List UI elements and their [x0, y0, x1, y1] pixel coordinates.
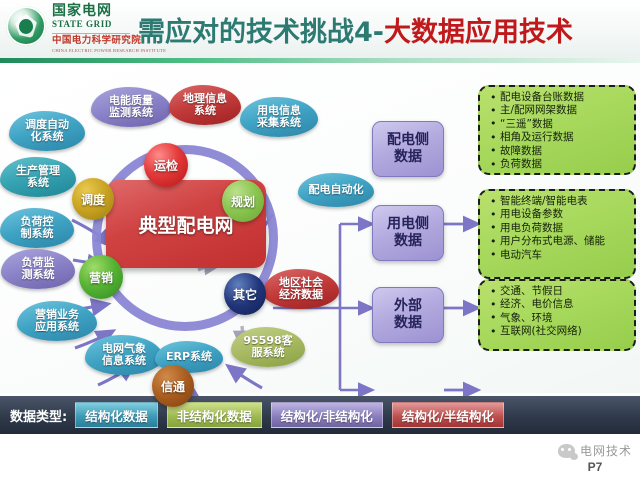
category-box-external-data[interactable]: 外部 数据 [372, 287, 444, 343]
cloud-regional-socioeconomic-data[interactable]: 地区社会经济数据 [263, 269, 339, 309]
cloud-marketing-business-application-system[interactable]: 营销业务应用系统 [17, 301, 97, 341]
hub-node-marketing[interactable]: 营销 [79, 255, 123, 299]
diagram-panel: 典型配电网 运检 规划 其它 信通 营销 调度 电能质量监测系统 地理信息系统 … [0, 63, 640, 393]
legend-label: 数据类型: [10, 406, 67, 425]
list-items: 配电设备台账数据 主/配网网架数据 “三遥”数据 相角及运行数据 故障数据 负荷… [488, 91, 628, 171]
state-grid-logo-icon [6, 6, 46, 46]
list-item: 用电负荷数据 [500, 222, 628, 235]
legend-chip-structured-semistructured[interactable]: 结构化/半结构化 [392, 402, 504, 428]
list-item: 互联网(社交网络) [500, 325, 628, 338]
watermark: 电网技术 P7 [558, 442, 632, 474]
cloud-label: 配电自动化 [309, 184, 364, 196]
list-item: 负荷数据 [500, 158, 628, 171]
list-item: 故障数据 [500, 145, 628, 158]
list-item: 用户分布式电源、储能 [500, 235, 628, 248]
cloud-label: 营销业务应用系统 [35, 309, 79, 333]
cloud-distribution-automation[interactable]: 配电自动化 [298, 173, 374, 207]
list-box-consumption-side-data: 智能终端/智能电表 用电设备参数 用电负荷数据 用户分布式电源、储能 电动汽车 [478, 189, 636, 279]
wechat-icon [558, 444, 575, 458]
cloud-label: 地区社会经济数据 [279, 277, 323, 301]
cloud-label: 负荷监测系统 [22, 257, 55, 281]
cloud-load-control-system[interactable]: 负荷控制系统 [0, 208, 74, 248]
list-item: 配电设备台账数据 [500, 91, 628, 104]
list-items: 智能终端/智能电表 用电设备参数 用电负荷数据 用户分布式电源、储能 电动汽车 [488, 195, 628, 262]
cloud-electricity-info-collection[interactable]: 用电信息采集系统 [240, 97, 318, 137]
cloud-load-monitoring-system[interactable]: 负荷监测系统 [1, 249, 75, 289]
hub-node-dispatching[interactable]: 调度 [72, 178, 114, 220]
list-item: 主/配网网架数据 [500, 104, 628, 117]
list-item: 交通、节假日 [500, 285, 628, 298]
cloud-label: ERP系统 [166, 351, 212, 363]
page-title: 需应对的技术挑战4-大数据应用技术 [138, 11, 638, 55]
cloud-label: 电网气象信息系统 [102, 343, 146, 367]
legend-bar: 数据类型: 结构化数据 非结构化数据 结构化/非结构化 结构化/半结构化 [0, 396, 640, 434]
cloud-label: 95598客服系统 [243, 335, 292, 359]
category-title-line1: 用电侧 [387, 216, 429, 234]
cloud-label: 负荷控制系统 [21, 216, 54, 240]
cloud-label: 生产管理系统 [16, 165, 60, 189]
list-item: 相角及运行数据 [500, 131, 628, 144]
list-item: 用电设备参数 [500, 208, 628, 221]
brand-divider [52, 33, 130, 34]
cloud-label: 电能质量监测系统 [109, 95, 153, 119]
cloud-grid-meteorological-info-system[interactable]: 电网气象信息系统 [85, 335, 163, 375]
cloud-dispatch-automation-system[interactable]: 调度自动化系统 [9, 111, 85, 151]
cloud-production-management-system[interactable]: 生产管理系统 [0, 157, 76, 197]
category-title-line1: 配电侧 [387, 132, 429, 150]
page-title-accent: 大数据应用技术 [384, 17, 573, 48]
list-item: “三遥”数据 [500, 118, 628, 131]
legend-chip-structured-unstructured[interactable]: 结构化/非结构化 [271, 402, 383, 428]
cloud-power-quality-monitoring[interactable]: 电能质量监测系统 [91, 87, 171, 127]
category-title-line2: 数据 [394, 233, 422, 251]
slide-root: 国家电网 STATE GRID 中国电力科学研究院 CHINA ELECTRIC… [0, 0, 640, 480]
list-item: 气象、环境 [500, 312, 628, 325]
legend-chip-unstructured[interactable]: 非结构化数据 [167, 402, 262, 428]
page-title-main: 需应对的技术挑战4- [138, 17, 384, 48]
cloud-label: 调度自动化系统 [25, 119, 69, 143]
cloud-label: 地理信息系统 [183, 93, 227, 117]
watermark-text: 电网技术 [580, 442, 632, 459]
category-title-line1: 外部 [394, 298, 422, 316]
list-box-distribution-side-data: 配电设备台账数据 主/配网网架数据 “三遥”数据 相角及运行数据 故障数据 负荷… [478, 85, 636, 175]
cloud-95598-customer-service-system[interactable]: 95598客服系统 [231, 327, 305, 367]
hub-node-planning[interactable]: 规划 [222, 180, 264, 222]
hub-node-info-communication[interactable]: 信通 [152, 365, 194, 407]
list-items: 交通、节假日 经济、电价信息 气象、环境 互联网(社交网络) [488, 285, 628, 339]
list-item: 电动汽车 [500, 249, 628, 262]
cloud-gis[interactable]: 地理信息系统 [169, 85, 241, 125]
slide-footer: 电网技术 P7 [0, 434, 640, 480]
hub-node-other[interactable]: 其它 [224, 273, 266, 315]
slide-header: 国家电网 STATE GRID 中国电力科学研究院 CHINA ELECTRIC… [0, 0, 640, 62]
category-title-line2: 数据 [394, 149, 422, 167]
category-box-consumption-side-data[interactable]: 用电侧 数据 [372, 205, 444, 261]
legend-chip-structured[interactable]: 结构化数据 [75, 402, 158, 428]
list-box-external-data: 交通、节假日 经济、电价信息 气象、环境 互联网(社交网络) [478, 279, 636, 351]
list-item: 智能终端/智能电表 [500, 195, 628, 208]
category-title-line2: 数据 [394, 315, 422, 333]
list-item: 经济、电价信息 [500, 298, 628, 311]
cloud-label: 用电信息采集系统 [257, 105, 301, 129]
page-number: P7 [588, 460, 603, 474]
category-box-distribution-side-data[interactable]: 配电侧 数据 [372, 121, 444, 177]
watermark-row: 电网技术 [558, 442, 632, 459]
hub-node-operation-inspection[interactable]: 运检 [144, 143, 188, 187]
